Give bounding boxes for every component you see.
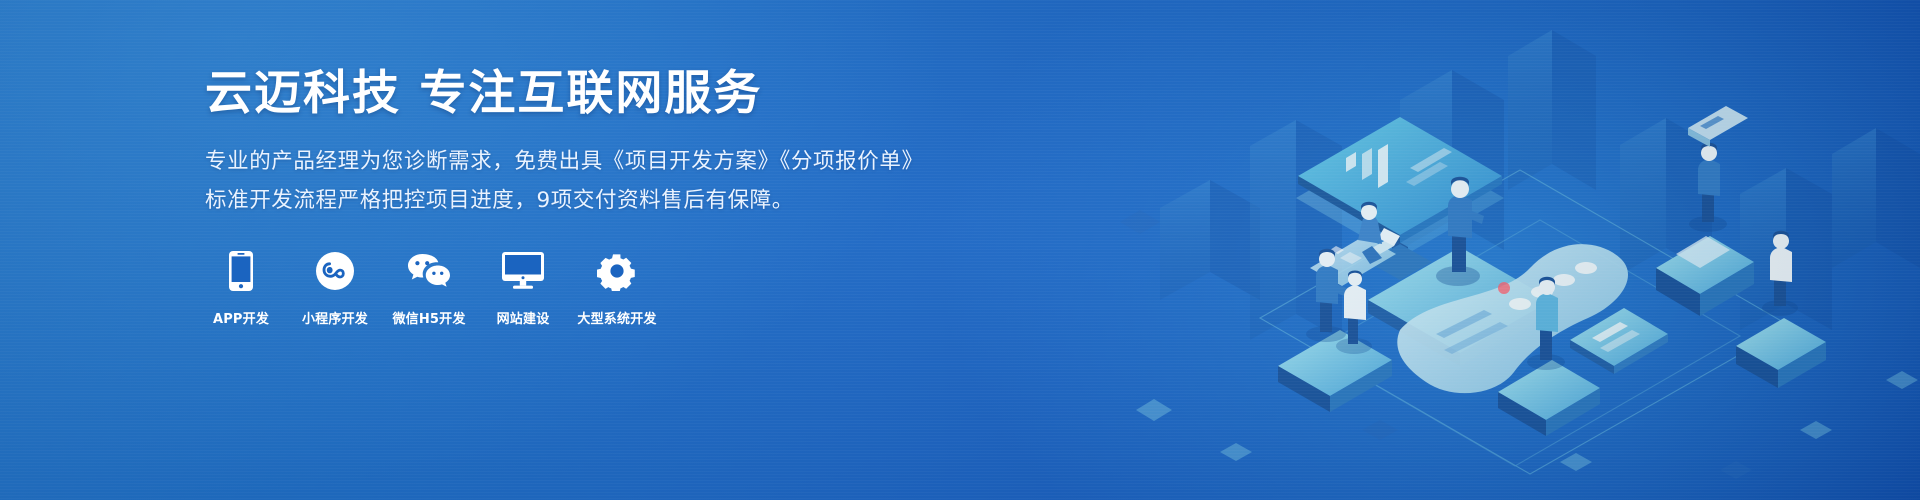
hero-banner: 云迈科技 专注互联网服务 专业的产品经理为您诊断需求，免费出具《项目开发方案》《… [0, 0, 1920, 500]
service-label: 小程序开发 [302, 308, 368, 327]
hero-subtitle: 专业的产品经理为您诊断需求，免费出具《项目开发方案》《分项报价单》 标准开发流程… [205, 143, 945, 220]
wechat-icon [407, 250, 451, 292]
isometric-illustration [1100, 0, 1920, 500]
service-item-app[interactable]: APP开发 [205, 250, 277, 327]
service-label: 微信H5开发 [392, 308, 465, 327]
gear-icon [597, 250, 637, 292]
service-item-website[interactable]: 网站建设 [487, 250, 559, 327]
service-label: 网站建设 [497, 308, 550, 327]
mobile-phone-icon [229, 250, 253, 292]
service-label: APP开发 [213, 308, 269, 327]
monitor-icon [502, 250, 544, 292]
service-list: APP开发 小程序开发 [205, 250, 945, 327]
service-item-wechat-h5[interactable]: 微信H5开发 [393, 250, 465, 327]
mini-program-icon [316, 250, 354, 292]
page-title: 云迈科技 专注互联网服务 [205, 66, 945, 121]
service-item-large-system[interactable]: 大型系统开发 [581, 250, 653, 327]
service-item-mini-program[interactable]: 小程序开发 [299, 250, 371, 327]
subtitle-line-2: 标准开发流程严格把控项目进度，9项交付资料售后有保障。 [205, 182, 945, 220]
subtitle-line-1: 专业的产品经理为您诊断需求，免费出具《项目开发方案》《分项报价单》 [205, 143, 945, 181]
hero-content: 云迈科技 专注互联网服务 专业的产品经理为您诊断需求，免费出具《项目开发方案》《… [205, 66, 945, 327]
service-label: 大型系统开发 [577, 308, 656, 327]
